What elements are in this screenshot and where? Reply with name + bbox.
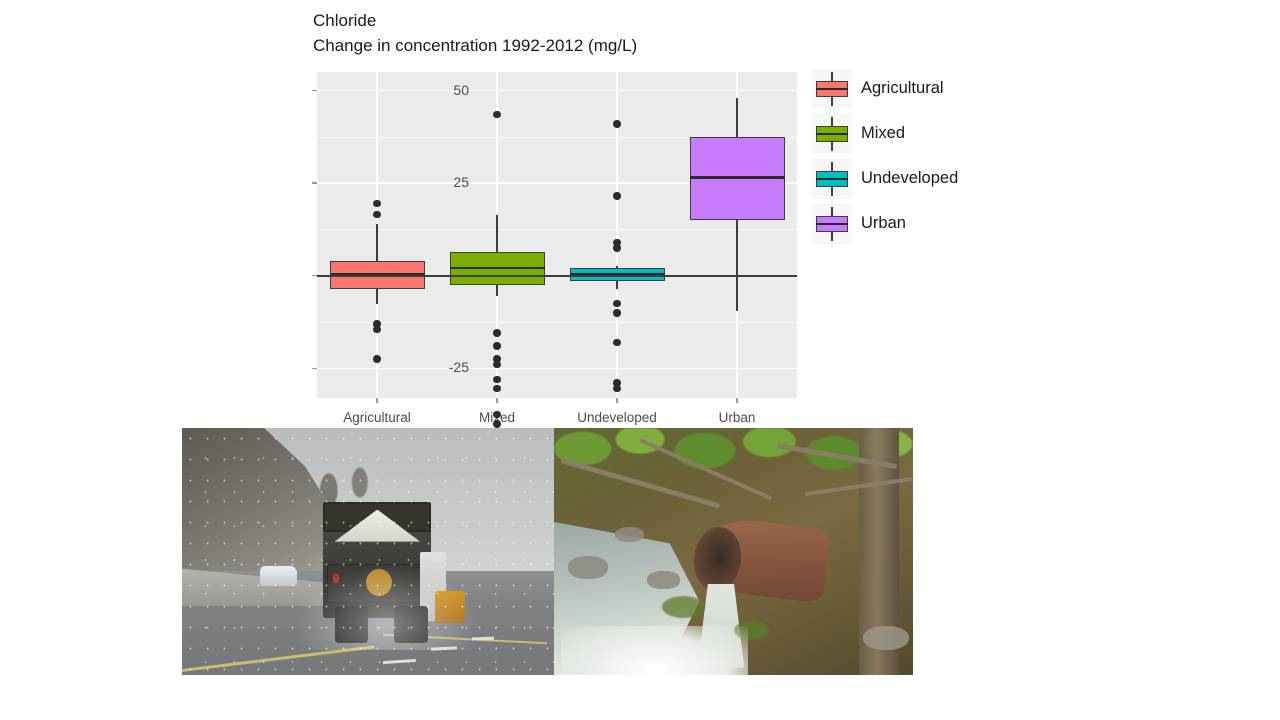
legend-key-boxplot-icon — [812, 204, 852, 244]
road-salt-truck-photo — [182, 428, 554, 675]
y-axis-tick-mark — [312, 182, 317, 183]
legend-key-boxplot-icon — [812, 114, 852, 154]
legend-median — [816, 88, 848, 90]
bank-rock — [863, 626, 910, 651]
outlier-point — [613, 192, 621, 200]
stream-rock — [615, 527, 644, 542]
chart-legend: AgriculturalMixedUndevelopedUrban — [812, 66, 1012, 246]
legend-whisker-bottom — [831, 141, 833, 151]
legend-whisker-bottom — [831, 231, 833, 241]
outlier-point — [613, 244, 621, 252]
water-foam — [561, 626, 748, 675]
y-axis-tick-mark — [312, 368, 317, 369]
outlier-point — [613, 300, 621, 308]
stream-rock — [568, 556, 607, 578]
legend-median — [816, 223, 848, 225]
x-axis-tick-label-agricultural: Agricultural — [343, 410, 411, 425]
photo-strip — [182, 428, 913, 675]
outlier-point — [493, 342, 501, 350]
legend-median — [816, 178, 848, 180]
boxplot-agricultural[interactable] — [330, 72, 425, 398]
whisker-lower — [616, 281, 618, 288]
outlier-point — [493, 376, 501, 384]
legend-item-mixed[interactable]: Mixed — [812, 111, 1012, 156]
plot-panel — [317, 72, 797, 398]
legend-key-boxplot-icon — [812, 69, 852, 109]
legend-whisker-bottom — [831, 96, 833, 106]
whisker-lower — [376, 289, 378, 304]
x-axis-tick-mark — [496, 398, 497, 403]
moss-patch — [662, 596, 705, 618]
whisker-lower — [496, 285, 498, 296]
falling-snow — [182, 428, 554, 675]
outlier-point — [493, 329, 501, 337]
outlier-point — [373, 200, 381, 208]
legend-item-undeveloped[interactable]: Undeveloped — [812, 156, 1012, 201]
x-axis-tick-mark — [736, 398, 737, 403]
x-axis-tick-label-urban: Urban — [719, 410, 756, 425]
stormwater-outfall-photo — [554, 428, 913, 675]
y-axis-tick-mark — [312, 90, 317, 91]
legend-item-label: Agricultural — [861, 79, 944, 98]
boxplot-urban[interactable] — [690, 72, 785, 398]
outlier-point — [493, 111, 501, 119]
legend-item-label: Urban — [861, 214, 906, 233]
whisker-upper — [496, 215, 498, 252]
legend-item-agricultural[interactable]: Agricultural — [812, 66, 1012, 111]
median-line — [450, 267, 545, 269]
whisker-lower — [736, 220, 738, 311]
page-subtitle: Change in concentration 1992-2012 (mg/L) — [313, 33, 1013, 58]
chart-title-block: Chloride Change in concentration 1992-20… — [313, 8, 1013, 58]
outlier-point — [373, 211, 381, 219]
legend-key-boxplot-icon — [812, 159, 852, 199]
zero-reference-line — [317, 275, 797, 277]
x-axis-tick-mark — [616, 398, 617, 403]
whisker-upper — [736, 98, 738, 137]
outlier-point — [373, 326, 381, 334]
page-title: Chloride — [313, 8, 1013, 33]
stream-rock — [647, 571, 679, 588]
outlier-point — [613, 309, 621, 317]
legend-whisker-bottom — [831, 186, 833, 196]
whisker-upper — [376, 224, 378, 261]
legend-item-label: Mixed — [861, 124, 905, 143]
outlier-point — [493, 420, 501, 428]
legend-item-label: Undeveloped — [861, 169, 958, 188]
x-axis-tick-mark — [376, 398, 377, 403]
median-line — [690, 176, 785, 178]
x-axis-tick-label-undeveloped: Undeveloped — [577, 410, 657, 425]
outlier-point — [613, 339, 621, 347]
legend-median — [816, 133, 848, 135]
outlier-point — [373, 355, 381, 363]
legend-item-urban[interactable]: Urban — [812, 201, 1012, 246]
outlier-point — [613, 120, 621, 128]
